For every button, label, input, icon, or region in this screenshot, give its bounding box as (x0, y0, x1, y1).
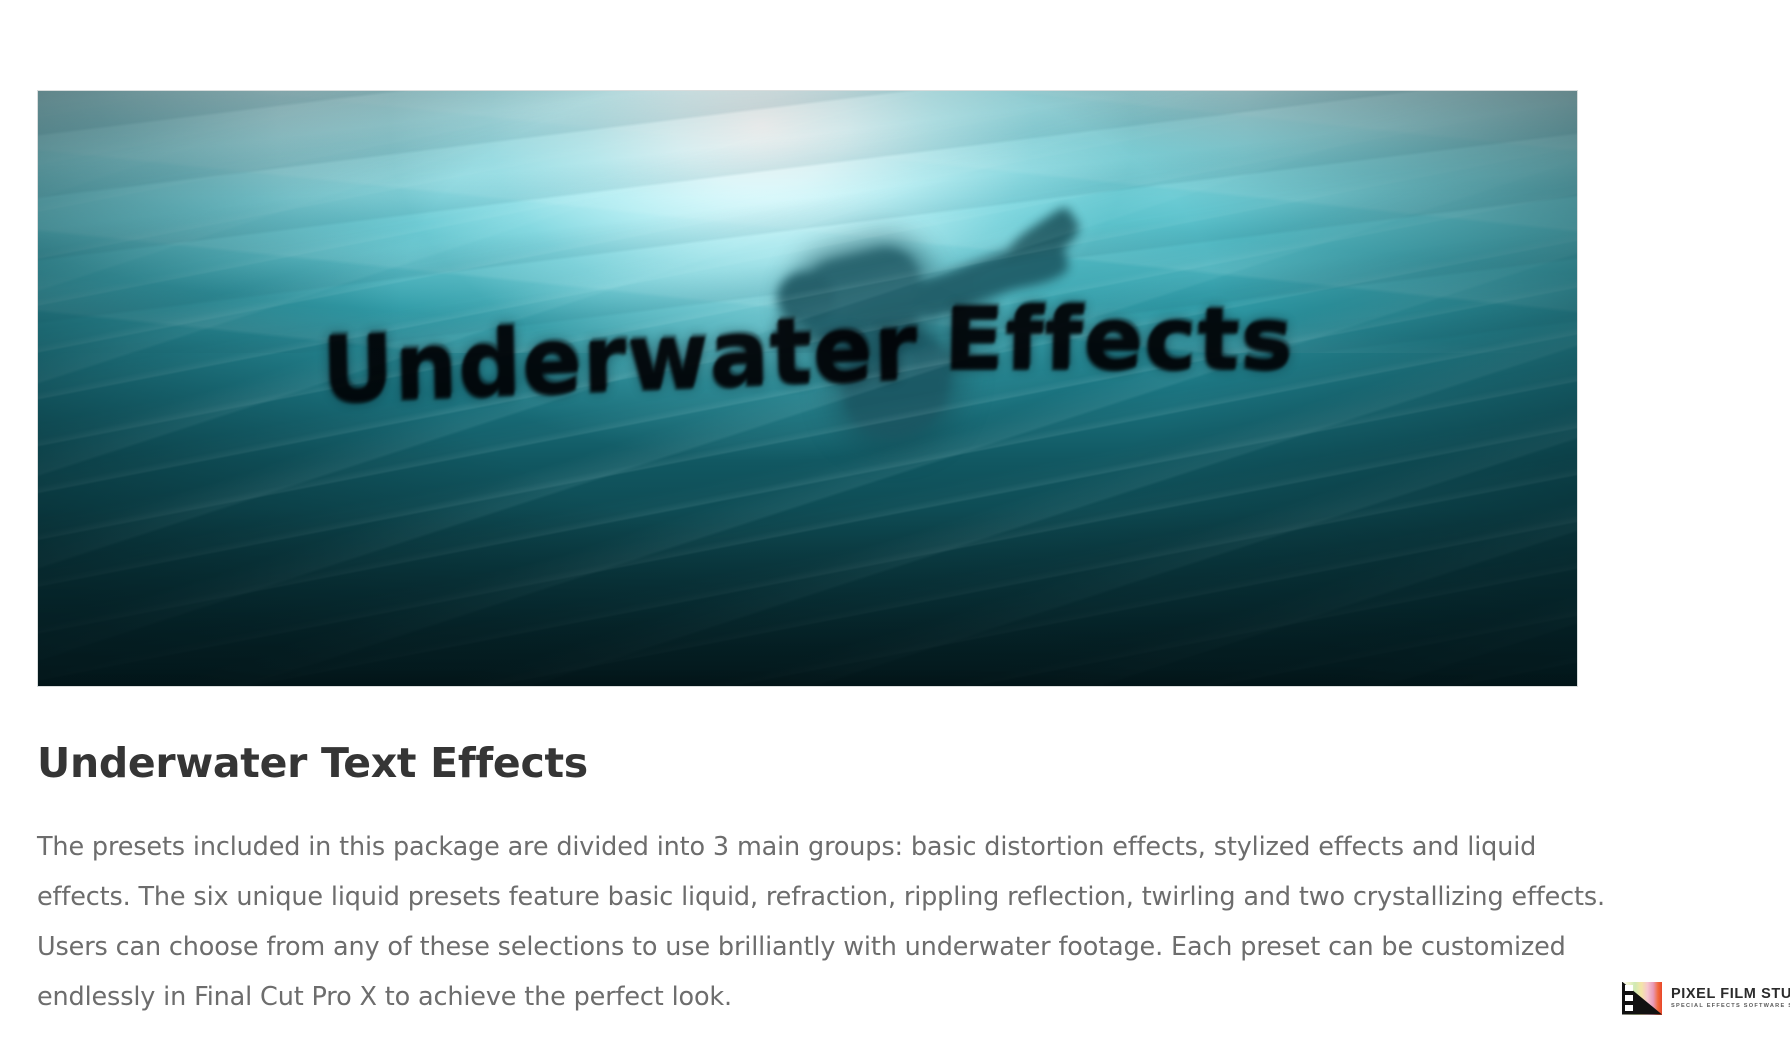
hero-image: UnderwaterEffects (37, 90, 1578, 687)
article-description: The presets included in this package are… (37, 822, 1607, 1022)
pixel-film-studios-logo[interactable]: PIXEL FILM STUDIOS™ SPECIAL EFFECTS SOFT… (1622, 978, 1782, 1018)
logo-brand-name-text: PIXEL FILM STUDIOS (1671, 986, 1790, 1002)
page-title: Underwater Text Effects (37, 740, 588, 787)
logo-text-block: PIXEL FILM STUDIOS™ SPECIAL EFFECTS SOFT… (1671, 986, 1790, 1010)
film-strip-icon (1622, 982, 1662, 1015)
logo-brand-name: PIXEL FILM STUDIOS™ (1671, 987, 1790, 1002)
photo-vignette (38, 91, 1577, 686)
logo-tagline: SPECIAL EFFECTS SOFTWARE SINCE 2005 (1671, 1004, 1790, 1010)
